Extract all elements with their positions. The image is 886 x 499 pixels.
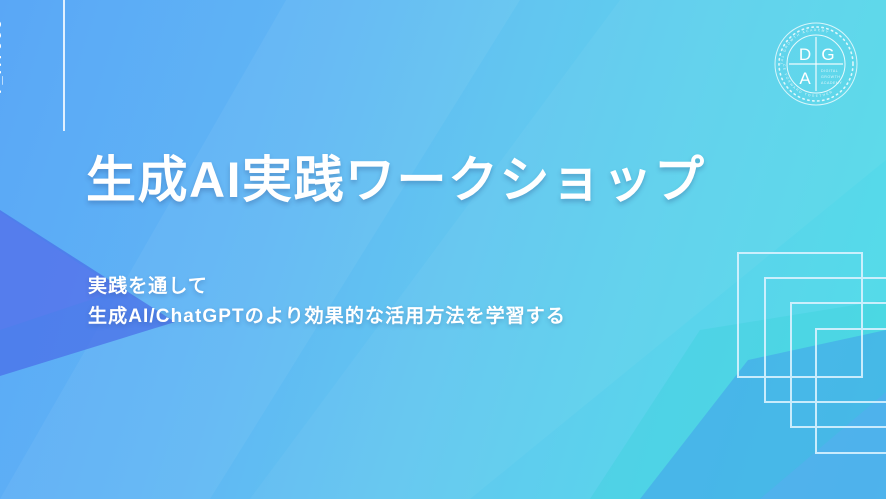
slide-title: 生成AI実践ワークショップ xyxy=(86,152,826,208)
subtitle-block: 実践を通して 生成AI/ChatGPTのより効果的な活用方法を学習する xyxy=(88,272,808,332)
slide-canvas: T_AT006 DIGITAL GROWTH ACADEMY ADVANCE F… xyxy=(0,0,886,499)
bottom-right-polygon-blue-2 xyxy=(760,392,886,499)
title-block: 生成AI実践ワークショップ xyxy=(86,152,826,208)
slide-code-label: T_AT006 xyxy=(0,18,8,118)
slide-subtitle-line-2: 生成AI/ChatGPTのより効果的な活用方法を学習する xyxy=(88,302,808,332)
logo-sub-line-1: DIGITAL xyxy=(821,69,838,73)
background-decoration xyxy=(0,0,886,499)
bottom-right-polygon-blue xyxy=(640,330,886,499)
decorative-square-4 xyxy=(816,329,886,453)
dga-logo-icon: DIGITAL GROWTH ACADEMY ADVANCE FORWARD T… xyxy=(772,20,860,108)
logo-sub-line-2: GROWTH xyxy=(821,75,840,79)
logo-letter-d: D xyxy=(799,45,811,64)
logo-sub-line-3: ACADEMY xyxy=(821,81,842,85)
slide-subtitle-line-1: 実践を通して xyxy=(88,272,808,302)
rail-divider-line xyxy=(63,0,65,131)
logo-letter-g: G xyxy=(821,45,834,64)
dga-logo: DIGITAL GROWTH ACADEMY ADVANCE FORWARD T… xyxy=(772,20,860,108)
logo-letter-a: A xyxy=(799,69,811,88)
light-diagonal-band xyxy=(0,0,520,499)
code-rail: T_AT006 xyxy=(0,0,72,132)
